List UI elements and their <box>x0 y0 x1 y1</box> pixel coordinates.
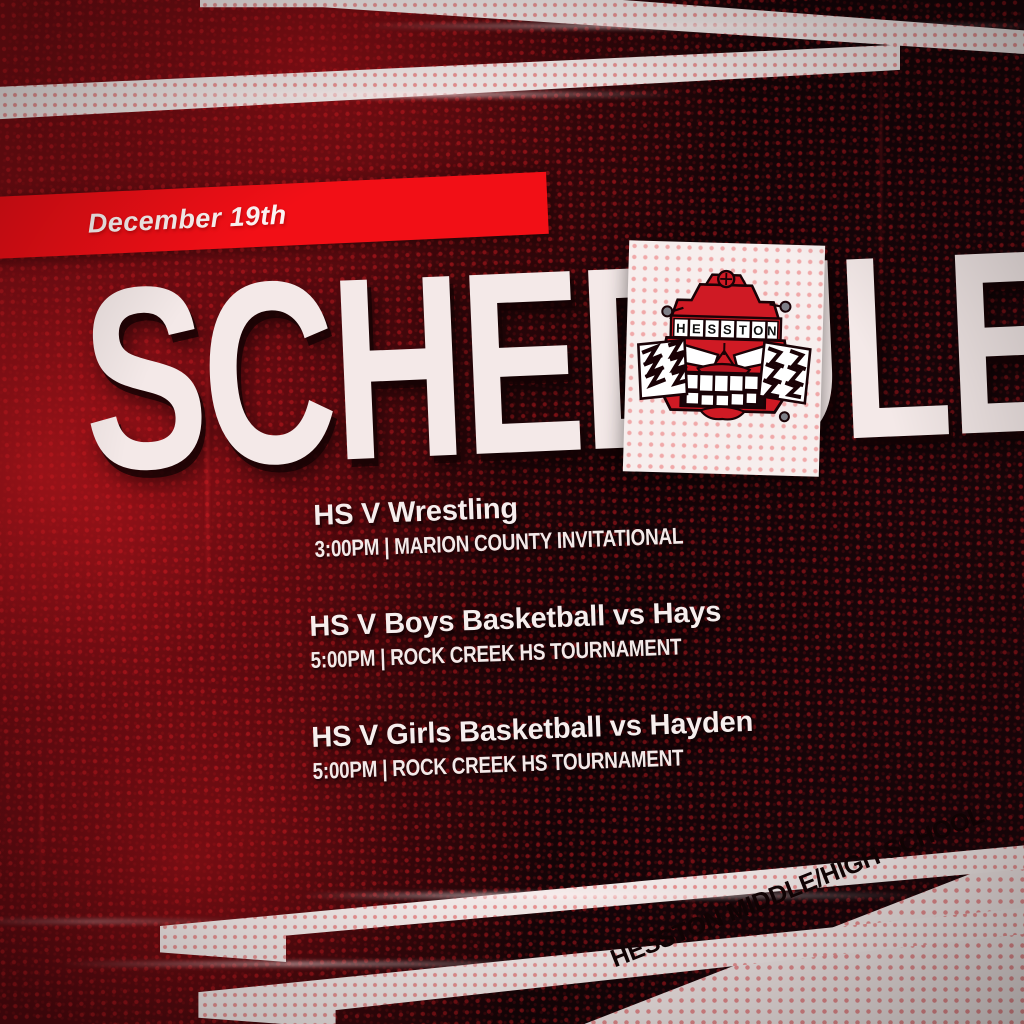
schedule-poster: December 19th SCHEDULE <box>0 0 1024 1024</box>
top-chevron-lower <box>0 40 900 155</box>
svg-text:S: S <box>723 322 732 337</box>
events-list: HS V Wrestling 3:00PM | MARION COUNTY IN… <box>306 500 1006 807</box>
svg-text:N: N <box>767 323 777 338</box>
bottom-chevron-lower <box>120 900 1024 1024</box>
bottom-chevron-glow <box>60 962 580 966</box>
svg-text:O: O <box>753 323 764 338</box>
top-chevron-glow <box>360 24 1024 28</box>
school-logo-card: HES STO N <box>623 240 825 476</box>
left-edge-glow <box>0 920 260 923</box>
top-chevron-upper <box>200 0 1024 85</box>
svg-text:E: E <box>692 321 701 336</box>
bottom-chevron-glow <box>300 893 920 898</box>
page-title-text: SCHEDULE <box>78 231 600 512</box>
event-item: HS V Girls Basketball vs Hayden 5:00PM |… <box>311 697 1007 785</box>
background-streak <box>40 760 42 940</box>
svg-text:T: T <box>739 322 747 337</box>
svg-text:S: S <box>707 322 716 337</box>
hesston-mascot-icon: HES STO N <box>623 240 825 476</box>
top-chevron-glow <box>120 92 680 97</box>
bottom-light-wedge <box>500 830 1024 1024</box>
event-item: HS V Boys Basketball vs Hays 5:00PM | RO… <box>309 586 1007 674</box>
svg-text:H: H <box>676 321 686 336</box>
school-name-footer: HESSTON MIDDLE/HIGH SCHOOL <box>607 801 989 974</box>
